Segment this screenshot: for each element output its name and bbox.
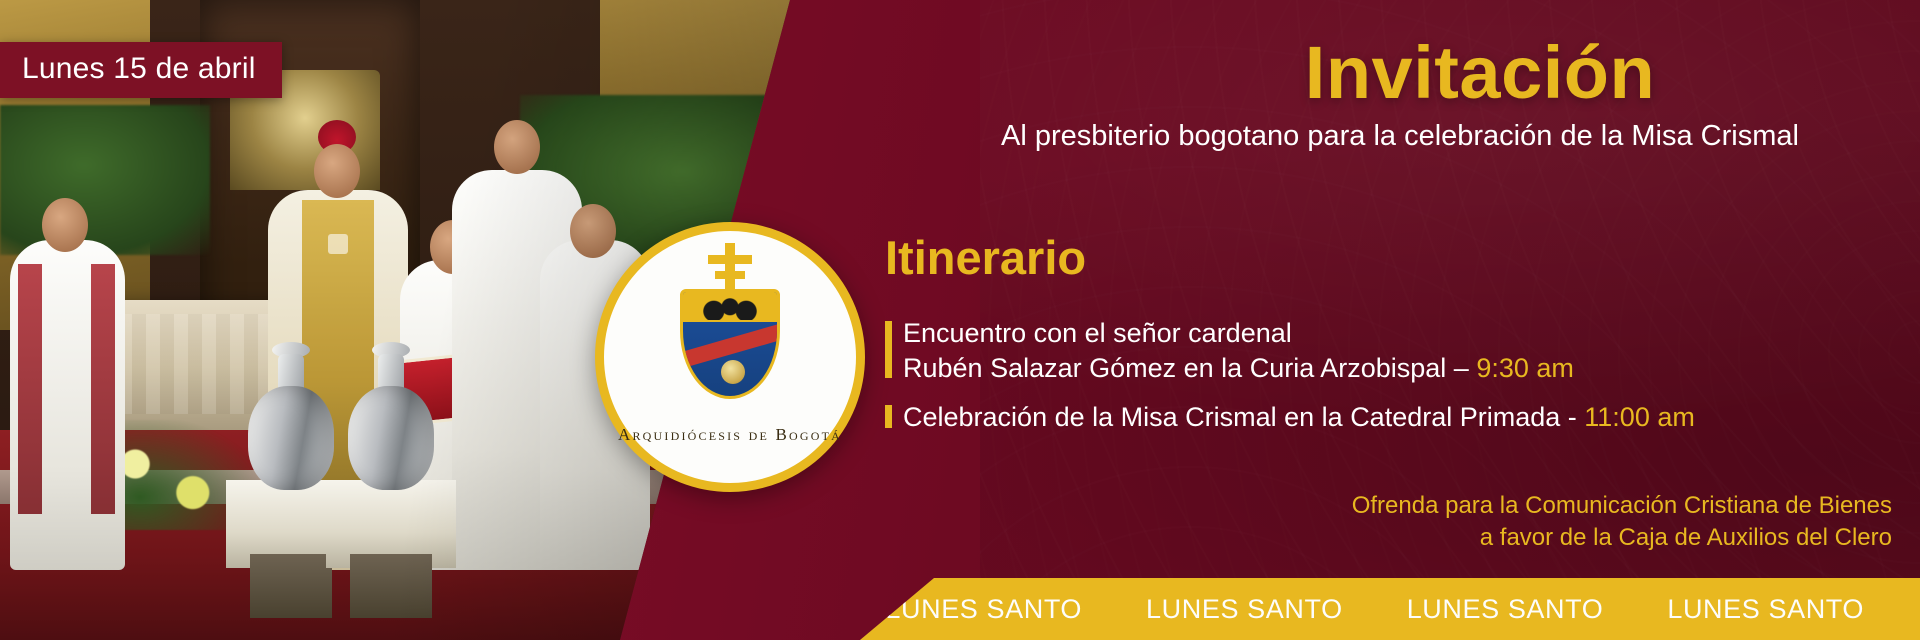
itinerary-item-1-line1: Encuentro con el señor cardenal bbox=[903, 316, 1574, 351]
itinerary-item-1: Encuentro con el señor cardenal Rubén Sa… bbox=[885, 316, 1574, 385]
invitation-banner: Lunes 15 de abril Arquidiócesis de Bogot… bbox=[0, 0, 1920, 640]
footer-strip: LUNES SANTO LUNES SANTO LUNES SANTO LUNE… bbox=[860, 578, 1920, 640]
page-title: Invitación bbox=[1080, 30, 1880, 115]
itinerary-item-2-time: 11:00 am bbox=[1584, 402, 1695, 432]
text-column: Invitación Al presbiterio bogotano para … bbox=[900, 0, 1920, 640]
footer-label: LUNES SANTO bbox=[1667, 594, 1864, 625]
footer-label: LUNES SANTO bbox=[1146, 594, 1343, 625]
page-subtitle: Al presbiterio bogotano para la celebrac… bbox=[900, 120, 1900, 153]
crest-artwork bbox=[670, 249, 790, 399]
eagle-icon bbox=[703, 298, 757, 320]
date-tag: Lunes 15 de abril bbox=[0, 42, 282, 98]
footer-label: LUNES SANTO bbox=[885, 594, 1082, 625]
itinerary-item-1-line2: Rubén Salazar Gómez en la Curia Arzobisp… bbox=[903, 351, 1574, 386]
itinerary-item-2-text: Celebración de la Misa Crismal en la Cat… bbox=[903, 402, 1584, 432]
offering-note: Ofrenda para la Comunicación Cristiana d… bbox=[1192, 490, 1892, 555]
itinerary-item-2: Celebración de la Misa Crismal en la Cat… bbox=[885, 400, 1695, 435]
itinerary-heading: Itinerario bbox=[885, 230, 1086, 285]
itinerary-item-1-text: Rubén Salazar Gómez en la Curia Arzobisp… bbox=[903, 353, 1476, 383]
diocese-crest: Arquidiócesis de Bogotá bbox=[595, 222, 865, 492]
offering-line-1: Ofrenda para la Comunicación Cristiana d… bbox=[1192, 490, 1892, 522]
itinerary-item-2-line1: Celebración de la Misa Crismal en la Cat… bbox=[903, 400, 1695, 435]
offering-line-2: a favor de la Caja de Auxilios del Clero bbox=[1192, 522, 1892, 554]
crest-caption: Arquidiócesis de Bogotá bbox=[618, 425, 842, 445]
pomegranate-icon bbox=[721, 360, 745, 384]
footer-label: LUNES SANTO bbox=[1407, 594, 1604, 625]
crest-shield bbox=[680, 289, 780, 399]
itinerary-item-1-time: 9:30 am bbox=[1476, 353, 1574, 383]
